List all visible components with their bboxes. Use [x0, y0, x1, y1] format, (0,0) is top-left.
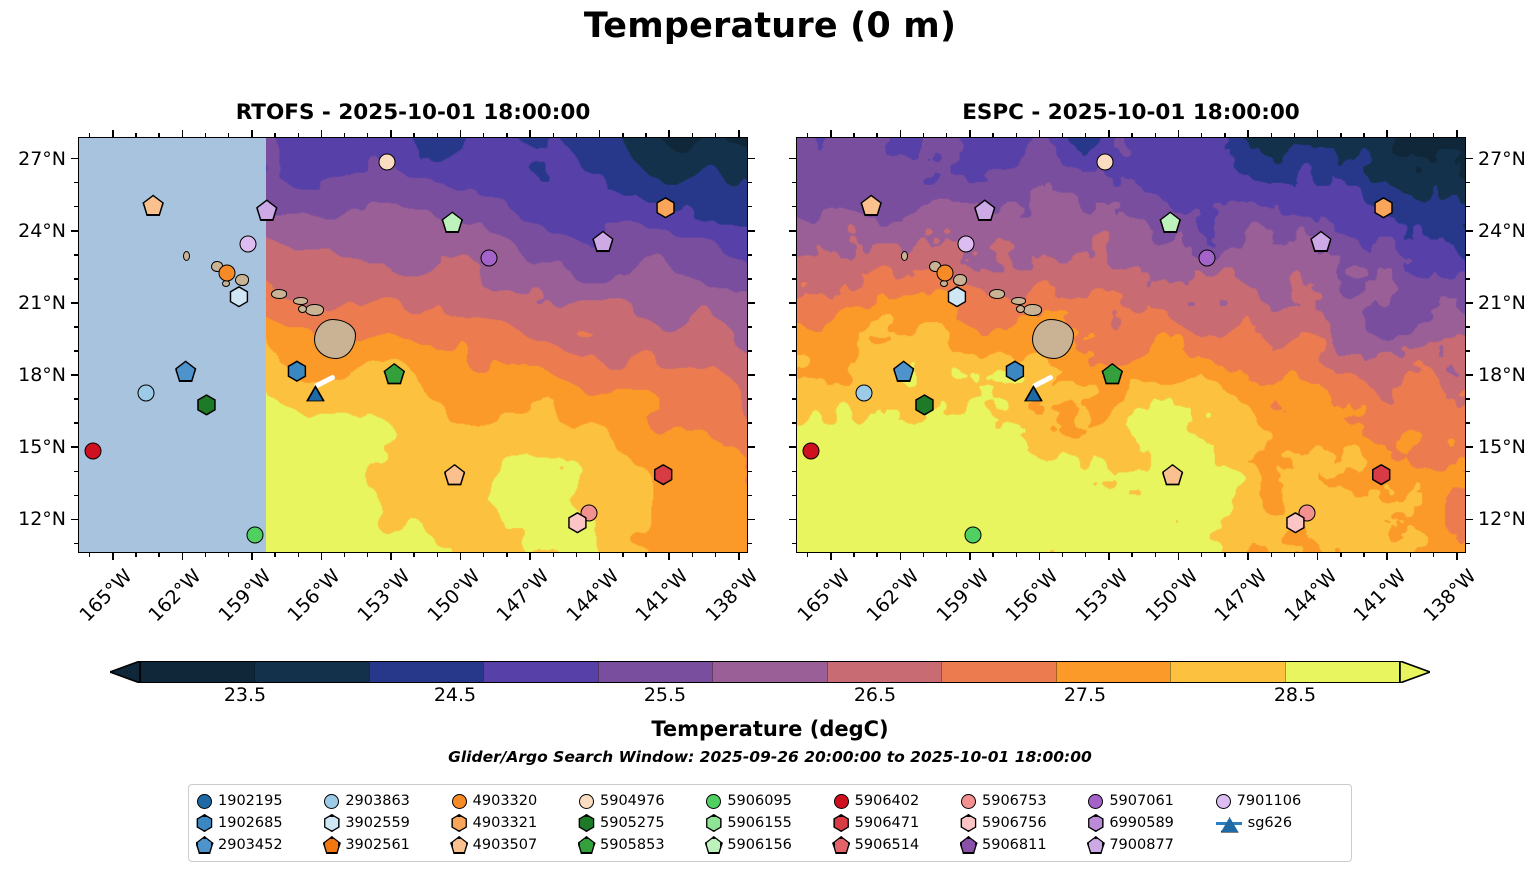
- lon-tick-minor: [946, 553, 947, 557]
- lon-tick-minor: [413, 553, 414, 557]
- lat-tick-minor: [792, 543, 796, 544]
- legend-label-5906514: 5906514: [855, 837, 920, 853]
- lat-tick-minor: [792, 422, 796, 423]
- legend-marker-wrap: [197, 816, 212, 831]
- lon-tick-minor: [1016, 553, 1017, 557]
- lon-tick-major: [900, 553, 902, 560]
- legend-marker-5906402: [834, 794, 849, 809]
- lon-tick-minor-top: [1155, 133, 1156, 137]
- lon-tick-minor: [622, 553, 623, 557]
- lat-tick-minor: [74, 422, 78, 423]
- lon-tick-major-top: [460, 130, 462, 137]
- lon-tick-minor-top: [506, 133, 507, 137]
- lat-tick-minor-right: [748, 350, 752, 351]
- float-legend[interactable]: 1902195290386349033205904976590609559064…: [188, 784, 1352, 862]
- legend-item-sg626[interactable]: sg626: [1216, 812, 1343, 834]
- lon-tick-minor-top: [807, 133, 808, 137]
- lon-tick-label: 159°W: [214, 565, 275, 626]
- lon-tick-major: [390, 553, 392, 560]
- colorbar-max-arrow: [1400, 661, 1430, 683]
- lon-tick-minor-top: [692, 133, 693, 137]
- lon-tick-minor-top: [715, 133, 716, 137]
- lon-tick-minor: [645, 553, 646, 557]
- lat-tick-minor-right: [1466, 326, 1470, 327]
- legend-marker-wrap: [961, 816, 976, 831]
- legend-marker-5906811: [961, 838, 976, 853]
- lon-tick-major: [1317, 553, 1319, 560]
- lat-tick-minor-right: [748, 206, 752, 207]
- lon-tick-major-top: [390, 130, 392, 137]
- legend-marker-wrap: [579, 838, 594, 853]
- lon-tick-minor: [692, 553, 693, 557]
- lon-tick-minor: [367, 553, 368, 557]
- island-kahoolawe: [1016, 305, 1025, 313]
- lon-tick-major: [1247, 553, 1249, 560]
- figure-title: Temperature (0 m): [0, 6, 1540, 46]
- float-marker-4903320[interactable]: [937, 264, 954, 281]
- lat-tick-minor-right: [1466, 278, 1470, 279]
- legend-item-1902195[interactable]: 1902195: [197, 790, 324, 812]
- lon-tick-major: [112, 553, 114, 560]
- lon-tick-label: 144°W: [1280, 565, 1341, 626]
- legend-item-2903863[interactable]: 2903863: [324, 790, 451, 812]
- lat-tick-minor: [792, 326, 796, 327]
- lon-tick-minor: [506, 553, 507, 557]
- legend-label-5906471: 5906471: [855, 815, 920, 831]
- lon-tick-minor-top: [344, 133, 345, 137]
- lat-tick-major-right: [1466, 158, 1473, 160]
- lon-tick-major-top: [1317, 130, 1319, 137]
- legend-item-7901106[interactable]: 7901106: [1216, 790, 1343, 812]
- legend-marker-4903320: [452, 794, 467, 809]
- legend-marker-5904976: [579, 794, 594, 809]
- lon-tick-major: [668, 553, 670, 560]
- colorbar: [110, 661, 1430, 683]
- lon-tick-minor-top: [1224, 133, 1225, 137]
- lon-tick-label: 144°W: [562, 565, 623, 626]
- lon-tick-label: 147°W: [492, 565, 553, 626]
- lat-tick-major-right: [748, 230, 755, 232]
- legend-label-4903321: 4903321: [473, 815, 538, 831]
- lon-tick-minor: [205, 553, 206, 557]
- lon-tick-minor-top: [553, 133, 554, 137]
- lon-tick-label: 156°W: [1002, 565, 1063, 626]
- legend-marker-5906156: [706, 838, 721, 853]
- lon-tick-minor-top: [622, 133, 623, 137]
- float-marker-5906095[interactable]: [247, 526, 264, 543]
- legend-item-6990589[interactable]: 6990589: [1088, 812, 1215, 834]
- colorbar-segment: [1170, 662, 1284, 682]
- legend-marker-7900877: [1088, 838, 1103, 853]
- lat-tick-minor-right: [748, 278, 752, 279]
- legend-label-5906156: 5906156: [727, 837, 792, 853]
- lon-tick-minor-top: [135, 133, 136, 137]
- legend-item-5905275[interactable]: 5905275: [579, 812, 706, 834]
- colorbar-tick-label: 28.5: [1274, 684, 1316, 706]
- colorbar-tick-label: 27.5: [1064, 684, 1106, 706]
- lon-tick-label: 138°W: [701, 565, 762, 626]
- lon-tick-major-top: [900, 130, 902, 137]
- lat-tick-label: 27°N: [1478, 148, 1526, 170]
- colorbar-tick-label: 24.5: [434, 684, 476, 706]
- legend-label-7901106: 7901106: [1237, 793, 1302, 809]
- lon-tick-minor-top: [228, 133, 229, 137]
- map-panel-espc[interactable]: [796, 137, 1466, 553]
- colorbar-tick-label: 25.5: [644, 684, 686, 706]
- legend-marker-wrap: [706, 816, 721, 831]
- temperature-field-espc: [797, 138, 1465, 552]
- panel-title-espc: ESPC - 2025-10-01 18:00:00: [796, 100, 1466, 125]
- lat-tick-minor-right: [1466, 182, 1470, 183]
- legend-item-5906095[interactable]: 5906095: [706, 790, 833, 812]
- legend-label-1902195: 1902195: [218, 793, 283, 809]
- lon-tick-major-top: [599, 130, 601, 137]
- lat-tick-major: [71, 302, 78, 304]
- lat-tick-major-right: [748, 158, 755, 160]
- lon-tick-major: [599, 553, 601, 560]
- float-marker-7901106[interactable]: [958, 235, 975, 252]
- lat-tick-major: [789, 158, 796, 160]
- lon-tick-major: [460, 553, 462, 560]
- lon-tick-major-top: [182, 130, 184, 137]
- lon-tick-major: [251, 553, 253, 560]
- legend-label-7900877: 7900877: [1109, 837, 1174, 853]
- lat-tick-minor: [792, 471, 796, 472]
- legend-marker-1902195: [197, 794, 212, 809]
- lon-tick-minor-top: [483, 133, 484, 137]
- lon-tick-major: [529, 553, 531, 560]
- legend-marker-wrap: [452, 816, 467, 831]
- lat-tick-minor-right: [1466, 398, 1470, 399]
- lon-tick-label: 147°W: [1210, 565, 1271, 626]
- legend-marker-wrap: [961, 838, 976, 853]
- lon-tick-major: [738, 553, 740, 560]
- lon-tick-minor: [1085, 553, 1086, 557]
- legend-item-5906156[interactable]: 5906156: [706, 834, 833, 856]
- lon-tick-major-top: [1039, 130, 1041, 137]
- island-kauai: [953, 274, 967, 286]
- lon-tick-minor: [1131, 553, 1132, 557]
- legend-label-sg626: sg626: [1248, 815, 1292, 831]
- lat-tick-minor: [792, 206, 796, 207]
- float-marker-5906402[interactable]: [84, 442, 101, 459]
- lon-tick-label: 150°W: [423, 565, 484, 626]
- lon-tick-minor-top: [1363, 133, 1364, 137]
- lon-tick-minor-top: [946, 133, 947, 137]
- legend-marker-wrap: [706, 838, 721, 853]
- legend-item-5906402[interactable]: 5906402: [834, 790, 961, 812]
- lon-tick-major-top: [1456, 130, 1458, 137]
- legend-marker-2903863: [324, 794, 339, 809]
- lon-tick-minor-top: [1131, 133, 1132, 137]
- lon-tick-minor-top: [1062, 133, 1063, 137]
- float-marker-2903863[interactable]: [138, 384, 155, 401]
- lon-tick-minor: [576, 553, 577, 557]
- lat-tick-minor: [792, 495, 796, 496]
- float-marker-7901106[interactable]: [240, 235, 257, 252]
- lat-tick-minor-right: [1466, 422, 1470, 423]
- float-marker-5907061[interactable]: [1199, 250, 1216, 267]
- lon-tick-minor: [553, 553, 554, 557]
- lon-tick-minor-top: [876, 133, 877, 137]
- lon-tick-minor-top: [298, 133, 299, 137]
- colorbar-gradient: [140, 661, 1400, 683]
- lon-tick-minor: [274, 553, 275, 557]
- lat-tick-minor-right: [1466, 543, 1470, 544]
- lon-tick-label: 162°W: [145, 565, 206, 626]
- lat-tick-label: 18°N: [1478, 364, 1526, 386]
- legend-marker-wrap: [834, 816, 849, 831]
- lon-tick-label: 165°W: [75, 565, 136, 626]
- panel-title-rtofs: RTOFS - 2025-10-01 18:00:00: [78, 100, 748, 125]
- lat-tick-minor-right: [1466, 471, 1470, 472]
- lat-tick-major-right: [1466, 230, 1473, 232]
- lat-tick-major: [789, 374, 796, 376]
- lat-tick-label: 15°N: [0, 436, 66, 458]
- lon-tick-minor: [992, 553, 993, 557]
- lon-tick-minor-top: [1085, 133, 1086, 137]
- lat-tick-major: [789, 446, 796, 448]
- legend-marker-4903507: [452, 838, 467, 853]
- lon-tick-minor: [807, 553, 808, 557]
- lon-tick-minor: [1201, 553, 1202, 557]
- legend-label-1902685: 1902685: [218, 815, 283, 831]
- lon-tick-major: [1456, 553, 1458, 560]
- lat-tick-minor-right: [748, 471, 752, 472]
- lon-tick-minor-top: [89, 133, 90, 137]
- float-marker-5904976[interactable]: [379, 154, 396, 171]
- lon-tick-minor: [158, 553, 159, 557]
- float-marker-5907061[interactable]: [481, 250, 498, 267]
- lon-tick-label: 141°W: [632, 565, 693, 626]
- lat-tick-minor-right: [748, 254, 752, 255]
- legend-item-3902559[interactable]: 3902559: [324, 812, 451, 834]
- lat-tick-minor: [792, 278, 796, 279]
- island-molokai: [293, 297, 308, 305]
- lat-tick-major-right: [1466, 302, 1473, 304]
- lon-tick-major-top: [1247, 130, 1249, 137]
- legend-item-5906471[interactable]: 5906471: [834, 812, 961, 834]
- lon-tick-minor-top: [158, 133, 159, 137]
- lon-tick-minor: [1433, 553, 1434, 557]
- legend-label-5905853: 5905853: [600, 837, 665, 853]
- lat-tick-major: [789, 519, 796, 521]
- legend-label-5906095: 5906095: [727, 793, 792, 809]
- lat-tick-major-right: [748, 374, 755, 376]
- colorbar-segment: [827, 662, 941, 682]
- lon-tick-label: 138°W: [1419, 565, 1480, 626]
- lon-tick-minor: [1155, 553, 1156, 557]
- lon-tick-minor: [344, 553, 345, 557]
- lat-tick-minor: [74, 206, 78, 207]
- colorbar-label: Temperature (degC): [0, 717, 1540, 741]
- lon-tick-minor: [715, 553, 716, 557]
- lat-tick-minor: [74, 495, 78, 496]
- lon-tick-major: [182, 553, 184, 560]
- lat-tick-major-right: [1466, 374, 1473, 376]
- lat-tick-minor-right: [1466, 495, 1470, 496]
- float-marker-4903320[interactable]: [219, 264, 236, 281]
- colorbar-segment: [712, 662, 826, 682]
- lon-tick-minor-top: [576, 133, 577, 137]
- legend-label-5905275: 5905275: [600, 815, 665, 831]
- colorbar-segment: [254, 662, 368, 682]
- lon-tick-major-top: [251, 130, 253, 137]
- colorbar-min-arrow: [110, 661, 140, 683]
- lon-tick-minor-top: [413, 133, 414, 137]
- lon-tick-minor: [853, 553, 854, 557]
- lon-tick-minor: [135, 553, 136, 557]
- lat-tick-label: 18°N: [0, 364, 66, 386]
- lon-tick-minor: [876, 553, 877, 557]
- legend-item-7900877[interactable]: 7900877: [1088, 834, 1215, 856]
- legend-item-1902685[interactable]: 1902685: [197, 812, 324, 834]
- island-nihoa: [901, 251, 908, 261]
- lon-tick-minor-top: [1410, 133, 1411, 137]
- lon-tick-major-top: [830, 130, 832, 137]
- lon-tick-major-top: [1178, 130, 1180, 137]
- lon-tick-minor: [1062, 553, 1063, 557]
- legend-item-5906756[interactable]: 5906756: [961, 812, 1088, 834]
- legend-glider-icon: [1216, 816, 1242, 831]
- legend-marker-wrap: [834, 838, 849, 853]
- legend-item-5904976[interactable]: 5904976: [579, 790, 706, 812]
- colorbar-segment: [141, 662, 254, 682]
- colorbar-segment: [1056, 662, 1170, 682]
- legend-label-5906753: 5906753: [982, 793, 1047, 809]
- lat-tick-major: [71, 446, 78, 448]
- lat-tick-minor: [74, 350, 78, 351]
- legend-label-5904976: 5904976: [600, 793, 665, 809]
- lat-tick-label: 12°N: [1478, 508, 1526, 530]
- legend-label-3902561: 3902561: [345, 837, 410, 853]
- legend-marker-wrap: [324, 816, 339, 831]
- legend-item-4903507[interactable]: 4903507: [452, 834, 579, 856]
- legend-marker-5906514: [834, 838, 849, 853]
- legend-marker-7901106: [1216, 794, 1231, 809]
- lat-tick-label: 21°N: [1478, 292, 1526, 314]
- lat-tick-minor-right: [1466, 350, 1470, 351]
- lon-tick-minor: [228, 553, 229, 557]
- float-marker-5906402[interactable]: [802, 442, 819, 459]
- colorbar-segment: [1285, 662, 1399, 682]
- map-panel-rtofs[interactable]: [78, 137, 748, 553]
- legend-item-2903452[interactable]: 2903452: [197, 834, 324, 856]
- legend-marker-wrap: [579, 816, 594, 831]
- lat-tick-minor: [74, 182, 78, 183]
- lat-tick-minor: [74, 326, 78, 327]
- lat-tick-minor: [792, 182, 796, 183]
- island-kauai: [235, 274, 249, 286]
- lon-tick-label: 162°W: [863, 565, 924, 626]
- legend-item-5906811[interactable]: 5906811: [961, 834, 1088, 856]
- lat-tick-label: 24°N: [1478, 220, 1526, 242]
- lat-tick-minor: [74, 543, 78, 544]
- lon-tick-major-top: [1386, 130, 1388, 137]
- lat-tick-major-right: [748, 302, 755, 304]
- lon-tick-major: [830, 553, 832, 560]
- lon-tick-minor-top: [274, 133, 275, 137]
- legend-marker-5906753: [961, 794, 976, 809]
- legend-item-4903321[interactable]: 4903321: [452, 812, 579, 834]
- lon-tick-minor-top: [1271, 133, 1272, 137]
- float-marker-2903863[interactable]: [856, 384, 873, 401]
- lat-tick-minor-right: [748, 543, 752, 544]
- legend-label-5906756: 5906756: [982, 815, 1047, 831]
- float-marker-5904976[interactable]: [1097, 154, 1114, 171]
- lat-tick-minor: [74, 278, 78, 279]
- lat-tick-minor-right: [1466, 206, 1470, 207]
- legend-item-3902561[interactable]: 3902561: [324, 834, 451, 856]
- legend-item-5907061[interactable]: 5907061: [1088, 790, 1215, 812]
- legend-label-2903863: 2903863: [345, 793, 410, 809]
- lat-tick-label: 27°N: [0, 148, 66, 170]
- legend-item-5906155[interactable]: 5906155: [706, 812, 833, 834]
- colorbar-segment: [598, 662, 712, 682]
- lon-tick-minor: [1224, 553, 1225, 557]
- lat-tick-major-right: [1466, 519, 1473, 521]
- legend-label-4903507: 4903507: [473, 837, 538, 853]
- lon-tick-major: [969, 553, 971, 560]
- lon-tick-minor: [437, 553, 438, 557]
- island-molokai: [1011, 297, 1026, 305]
- lon-tick-minor-top: [645, 133, 646, 137]
- island-kahoolawe: [298, 305, 307, 313]
- lon-tick-minor-top: [367, 133, 368, 137]
- lon-tick-label: 165°W: [793, 565, 854, 626]
- lat-tick-minor: [792, 398, 796, 399]
- lon-tick-minor-top: [853, 133, 854, 137]
- legend-item-5906514[interactable]: 5906514: [834, 834, 961, 856]
- legend-item-5905853[interactable]: 5905853: [579, 834, 706, 856]
- lat-tick-minor-right: [748, 182, 752, 183]
- legend-item-5906753[interactable]: 5906753: [961, 790, 1088, 812]
- lat-tick-major: [71, 158, 78, 160]
- float-marker-5906095[interactable]: [965, 526, 982, 543]
- search-window-note: Glider/Argo Search Window: 2025-09-26 20…: [0, 748, 1540, 766]
- lat-tick-label: 12°N: [0, 508, 66, 530]
- colorbar-segment: [483, 662, 597, 682]
- legend-label-4903320: 4903320: [473, 793, 538, 809]
- lon-tick-minor: [1410, 553, 1411, 557]
- legend-item-4903320[interactable]: 4903320: [452, 790, 579, 812]
- island-maui: [1023, 304, 1042, 316]
- colorbar-tick-label: 23.5: [224, 684, 266, 706]
- lon-tick-major-top: [112, 130, 114, 137]
- lon-tick-minor: [923, 553, 924, 557]
- lat-tick-major-right: [748, 519, 755, 521]
- lon-tick-minor: [1271, 553, 1272, 557]
- lat-tick-minor: [792, 350, 796, 351]
- lat-tick-minor-right: [748, 422, 752, 423]
- lon-tick-minor-top: [1201, 133, 1202, 137]
- lat-tick-major: [71, 519, 78, 521]
- lon-tick-label: 150°W: [1141, 565, 1202, 626]
- legend-marker-wrap: [452, 838, 467, 853]
- lon-tick-major: [1108, 553, 1110, 560]
- lat-tick-major: [789, 302, 796, 304]
- legend-marker-5906095: [706, 794, 721, 809]
- lon-tick-minor: [1340, 553, 1341, 557]
- lon-tick-label: 153°W: [1071, 565, 1132, 626]
- legend-marker-wrap: [1088, 816, 1103, 831]
- lon-tick-minor: [1294, 553, 1295, 557]
- lat-tick-minor-right: [748, 326, 752, 327]
- lat-tick-major: [71, 230, 78, 232]
- legend-label-3902559: 3902559: [345, 815, 410, 831]
- lat-tick-minor: [74, 254, 78, 255]
- lon-tick-major-top: [529, 130, 531, 137]
